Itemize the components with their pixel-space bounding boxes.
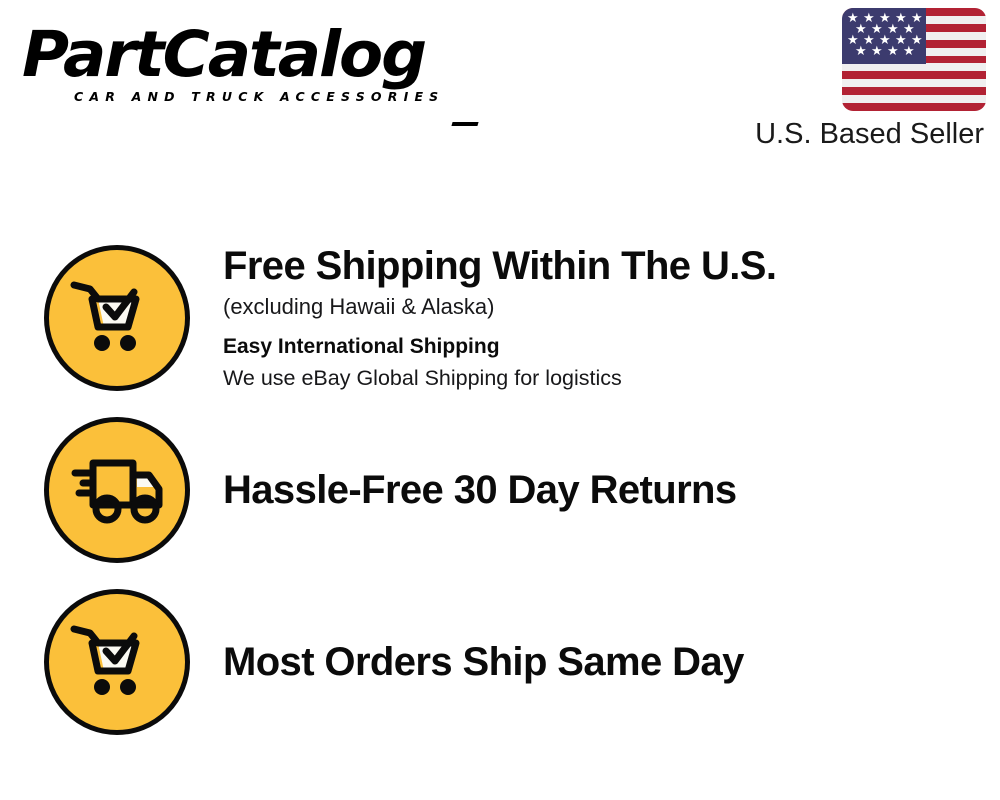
feature-subtext-note: We use eBay Global Shipping for logistic… (223, 362, 1000, 394)
feature-heading: Most Orders Ship Same Day (223, 638, 1000, 686)
banner-header: PartCatalog CAR AND TRUCK ACCESSORIES (0, 0, 1000, 175)
feature-heading: Hassle-Free 30 Day Returns (223, 466, 1000, 514)
list-item: Free Shipping Within The U.S. (excluding… (0, 232, 1000, 404)
feature-text-block: Most Orders Ship Same Day (190, 638, 1000, 686)
list-item: Most Orders Ship Same Day (0, 576, 1000, 748)
brand-tagline: CAR AND TRUCK ACCESSORIES (74, 89, 492, 105)
us-flag-icon: ★ ★ ★ ★ ★ ★ ★ ★ ★ ★ ★ ★ ★ ★ ★ (842, 8, 986, 111)
brand-wordmark: PartCatalog (22, 22, 501, 88)
brand-tagline-rule (451, 122, 478, 126)
feature-text-block: Free Shipping Within The U.S. (excluding… (190, 242, 1000, 394)
feature-text-block: Hassle-Free 30 Day Returns (190, 466, 1000, 514)
brand-logo: PartCatalog CAR AND TRUCK ACCESSORIES (22, 22, 492, 117)
shopping-cart-check-icon (44, 589, 190, 735)
feature-heading: Free Shipping Within The U.S. (223, 242, 1000, 290)
feature-subtext: (excluding Hawaii & Alaska) (223, 290, 1000, 324)
shopping-cart-check-icon (44, 245, 190, 391)
flag-star-grid: ★ ★ ★ ★ ★ ★ ★ ★ ★ ★ ★ ★ ★ ★ ★ (842, 8, 926, 64)
feature-subtext-strong: Easy International Shipping (223, 332, 1000, 362)
seller-badge-label: U.S. Based Seller (716, 117, 986, 151)
delivery-truck-icon (44, 417, 190, 563)
shipping-info-banner: PartCatalog CAR AND TRUCK ACCESSORIES (0, 0, 1000, 800)
flag-canton: ★ ★ ★ ★ ★ ★ ★ ★ ★ ★ ★ ★ ★ ★ ★ (842, 8, 926, 64)
list-item: Hassle-Free 30 Day Returns (0, 404, 1000, 576)
seller-badge: ★ ★ ★ ★ ★ ★ ★ ★ ★ ★ ★ ★ ★ ★ ★ (716, 8, 986, 151)
